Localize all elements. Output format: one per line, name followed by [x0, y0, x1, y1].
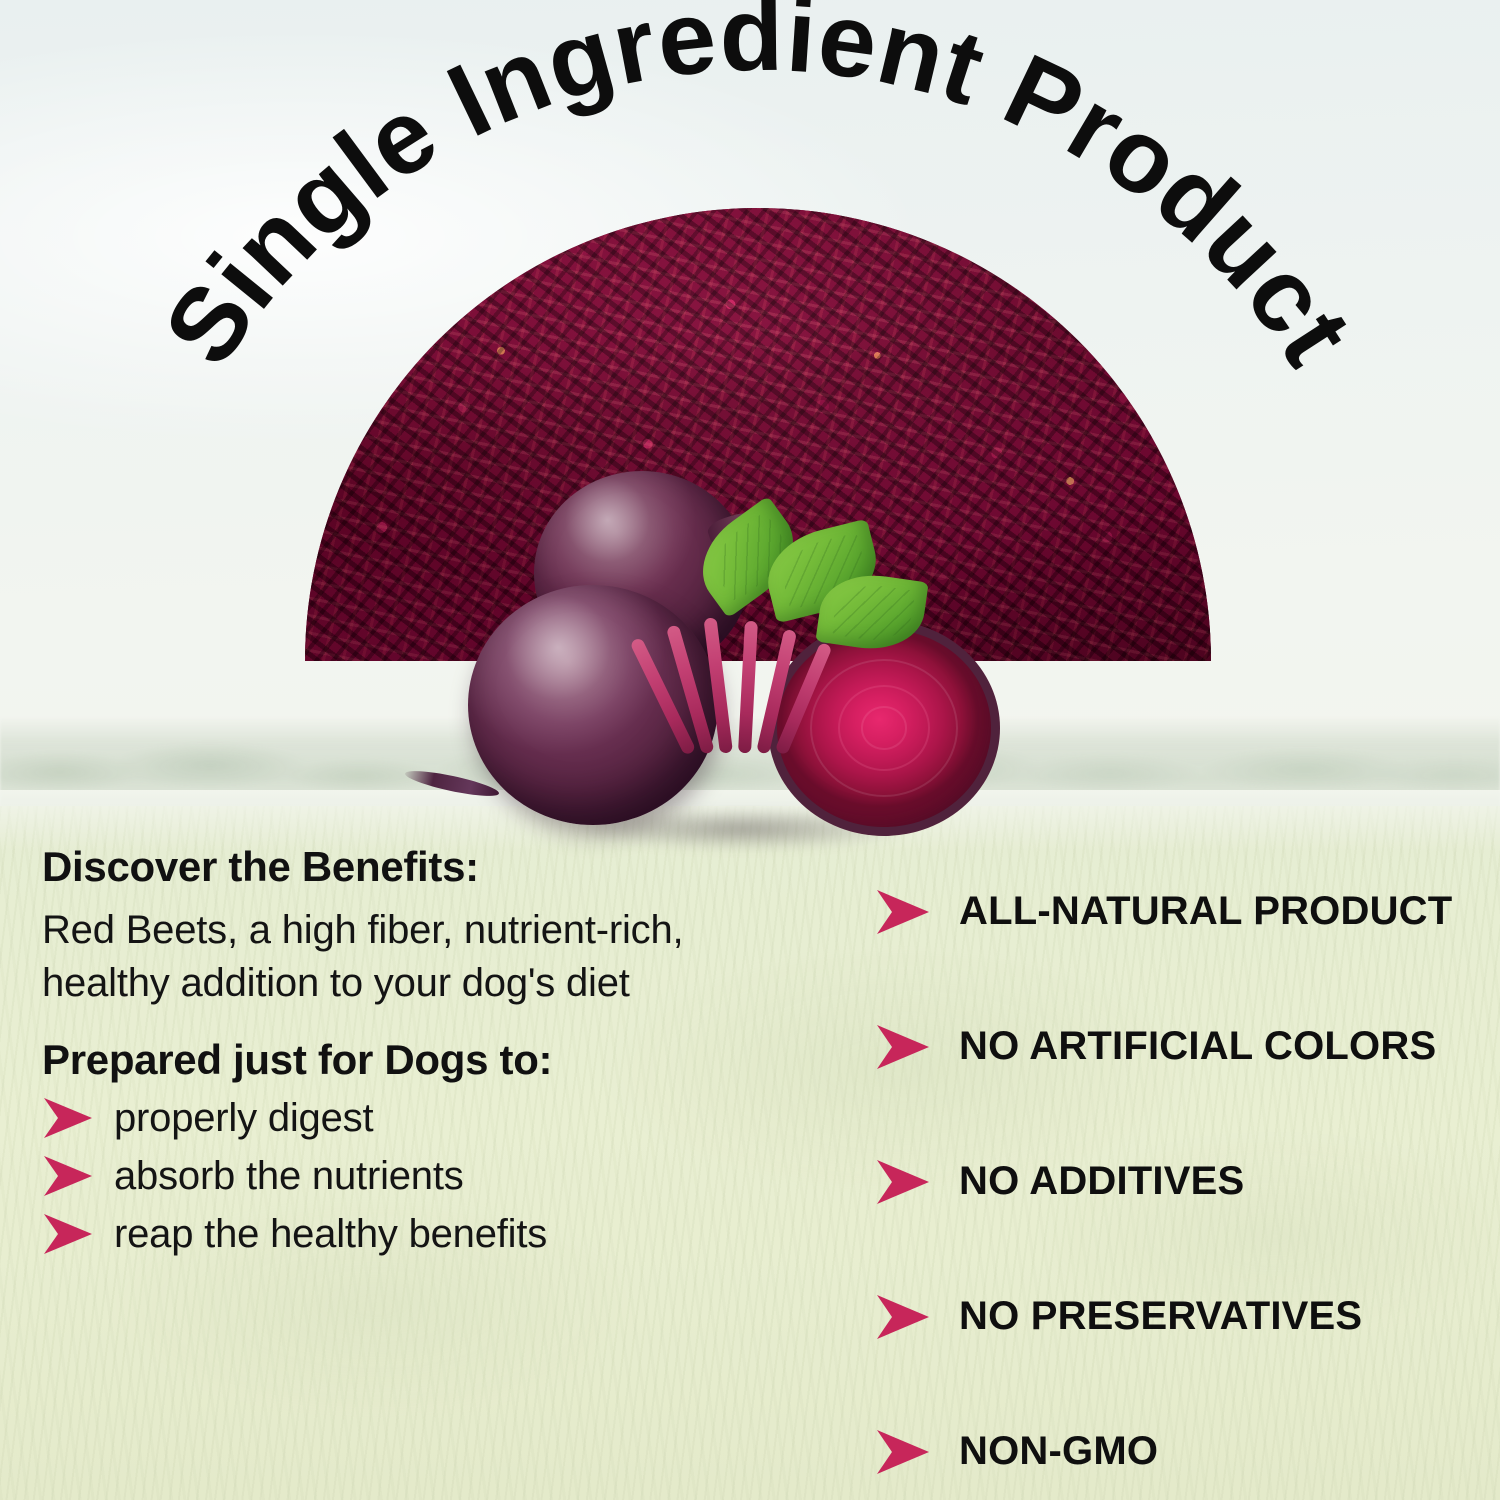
arrow-right-icon: [875, 1428, 931, 1476]
prepared-heading: Prepared just for Dogs to:: [42, 1036, 762, 1084]
list-item: NO ADDITIVES: [875, 1114, 1475, 1249]
feature-label: NO PRESERVATIVES: [959, 1294, 1362, 1339]
arrow-right-icon: [875, 1158, 931, 1206]
list-item: NON-GMO: [875, 1384, 1475, 1500]
list-item: ALL-NATURAL PRODUCT: [875, 844, 1475, 979]
list-item-label: reap the healthy benefits: [114, 1212, 547, 1256]
list-item-label: properly digest: [114, 1096, 373, 1140]
feature-label: ALL-NATURAL PRODUCT: [959, 889, 1452, 934]
arrow-right-icon: [875, 1023, 931, 1071]
list-item: absorb the nutrients: [42, 1154, 762, 1198]
list-item-label: absorb the nutrients: [114, 1154, 464, 1198]
features-column: ALL-NATURAL PRODUCT NO ARTIFICIAL COLORS: [875, 844, 1475, 1500]
benefits-column: Discover the Benefits: Red Beets, a high…: [42, 844, 762, 1270]
arrow-right-icon: [42, 1096, 94, 1140]
content-area: Discover the Benefits: Red Beets, a high…: [0, 826, 1500, 1500]
list-item: properly digest: [42, 1096, 762, 1140]
benefits-bullet-list: properly digest absorb the nutrients: [42, 1096, 762, 1256]
feature-label: NON-GMO: [959, 1429, 1158, 1474]
list-item: NO PRESERVATIVES: [875, 1249, 1475, 1384]
arrow-right-icon: [42, 1212, 94, 1256]
benefits-body: Red Beets, a high fiber, nutrient-rich, …: [42, 904, 742, 1010]
feature-label: NO ARTIFICIAL COLORS: [959, 1024, 1436, 1069]
arrow-right-icon: [875, 888, 931, 936]
list-item: reap the healthy benefits: [42, 1212, 762, 1256]
infographic-canvas: Single Ingredient Product Discover the B…: [0, 0, 1500, 1500]
arrow-right-icon: [875, 1293, 931, 1341]
feature-label: NO ADDITIVES: [959, 1159, 1244, 1204]
benefits-heading: Discover the Benefits:: [42, 844, 762, 890]
beet-stalks-and-leaves: [674, 553, 914, 753]
arrow-right-icon: [42, 1154, 94, 1198]
fresh-beets-cluster: [438, 415, 1058, 865]
list-item: NO ARTIFICIAL COLORS: [875, 979, 1475, 1114]
features-list: ALL-NATURAL PRODUCT NO ARTIFICIAL COLORS: [875, 844, 1475, 1500]
